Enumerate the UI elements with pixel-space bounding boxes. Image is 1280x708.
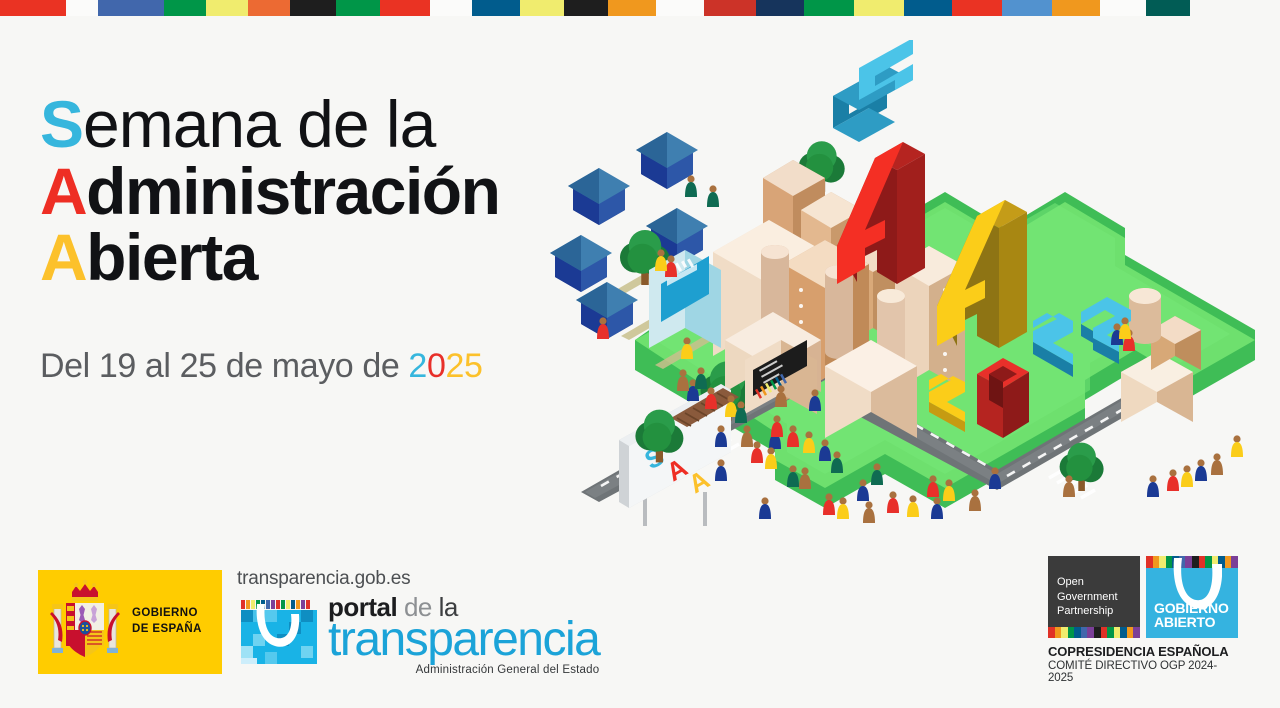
stripe-segment-16 — [756, 0, 804, 16]
gobierno-abierto-mark: GOBIERNO ABIERTO — [1146, 556, 1238, 638]
stripe-segment-15 — [704, 0, 756, 16]
ogp-black-mark: Open Government Partnership — [1048, 556, 1140, 638]
gob-line-2: DE ESPAÑA — [132, 622, 202, 638]
ogp-caption-line-2: COMITÉ DIRECTIVO OGP 2024-2025 — [1048, 660, 1238, 684]
stripe-segment-9 — [430, 0, 472, 16]
headline-line-1-rest: emana de la — [83, 87, 435, 161]
stripe-segment-12 — [564, 0, 608, 16]
transparencia-wordmark: transparencia — [328, 617, 599, 663]
headline-line-3-rest: bierta — [86, 220, 257, 294]
stripe-segment-4 — [206, 0, 248, 16]
stripe-segment-11 — [520, 0, 564, 16]
ogp-line-3: Partnership — [1057, 604, 1118, 619]
gob-line-1: GOBIERNO — [132, 606, 202, 622]
stripe-segment-13 — [608, 0, 656, 16]
stripe-segment-10 — [472, 0, 520, 16]
stripe-segment-7 — [336, 0, 380, 16]
rounded-building — [1129, 288, 1161, 344]
headline-initial-a1: A — [40, 154, 86, 228]
headline-initial-a2: A — [40, 220, 86, 294]
ogp-bluestripe-seg-13 — [1231, 556, 1238, 568]
transparencia-url[interactable]: transparencia.gob.es — [237, 568, 627, 590]
stripe-segment-17 — [804, 0, 854, 16]
headline-line-2: Administración — [40, 161, 560, 222]
headline-line-3: Abierta — [40, 227, 560, 288]
stripe-segment-6 — [290, 0, 336, 16]
year-digits-25: 25 — [445, 347, 482, 385]
page-title: Semana de la Administración Abierta — [40, 94, 560, 288]
coat-of-arms-icon — [46, 576, 124, 668]
stripe-segment-20 — [952, 0, 1002, 16]
gobierno-abierto-label: GOBIERNO ABIERTO — [1154, 601, 1229, 630]
ogp-blackstripe-seg-13 — [1133, 627, 1140, 638]
stripe-segment-23 — [1100, 0, 1146, 16]
year-digit-2: 2 — [408, 347, 427, 385]
stripe-segment-1 — [66, 0, 98, 16]
ogp-label: Open Government Partnership — [1048, 575, 1118, 619]
ogp-line-1: Open — [1057, 575, 1118, 590]
stripe-segment-8 — [380, 0, 430, 16]
open-government-partnership-logo: Open Government Partnership GOBIERNO ABI… — [1048, 556, 1238, 680]
headline-line-2-rest: dministración — [86, 154, 499, 228]
stripe-segment-3 — [164, 0, 206, 16]
decorative-color-stripe — [0, 0, 1280, 16]
stripe-segment-0 — [0, 0, 66, 16]
ogp-line-2: Government — [1057, 590, 1118, 605]
isometric-city-illustration: S A A — [525, 40, 1270, 550]
event-dates: Del 19 al 25 de mayo de 2025 — [40, 347, 482, 386]
ogp-color-stripe-bottom — [1048, 627, 1140, 638]
stripe-segment-2 — [98, 0, 164, 16]
ga-line-1: GOBIERNO — [1154, 601, 1229, 616]
event-dates-prefix: Del 19 al 25 de mayo de — [40, 347, 408, 385]
ogp-caption-line-1: COPRESIDENCIA ESPAÑOLA — [1048, 644, 1238, 659]
stripe-segment-24 — [1146, 0, 1190, 16]
portal-de-la-transparencia-logo[interactable]: transparencia.gob.es — [237, 568, 627, 680]
stripe-segment-19 — [904, 0, 952, 16]
stripe-segment-14 — [656, 0, 704, 16]
headline-initial-s: S — [40, 87, 83, 161]
gobierno-de-espana-label: GOBIERNO DE ESPAÑA — [132, 606, 202, 637]
stripe-segment-5 — [248, 0, 290, 16]
year-digit-0: 0 — [427, 347, 446, 385]
headline-line-1: Semana de la — [40, 94, 560, 155]
stripe-segment-18 — [854, 0, 904, 16]
gobierno-de-espana-logo: GOBIERNO DE ESPAÑA — [38, 570, 222, 674]
transparencia-mark-icon — [237, 596, 321, 668]
stripe-segment-21 — [1002, 0, 1052, 16]
isometric-letter-S — [833, 40, 913, 142]
ga-line-2: ABIERTO — [1154, 615, 1229, 630]
ogp-caption: COPRESIDENCIA ESPAÑOLA COMITÉ DIRECTIVO … — [1048, 644, 1238, 684]
stripe-segment-22 — [1052, 0, 1100, 16]
